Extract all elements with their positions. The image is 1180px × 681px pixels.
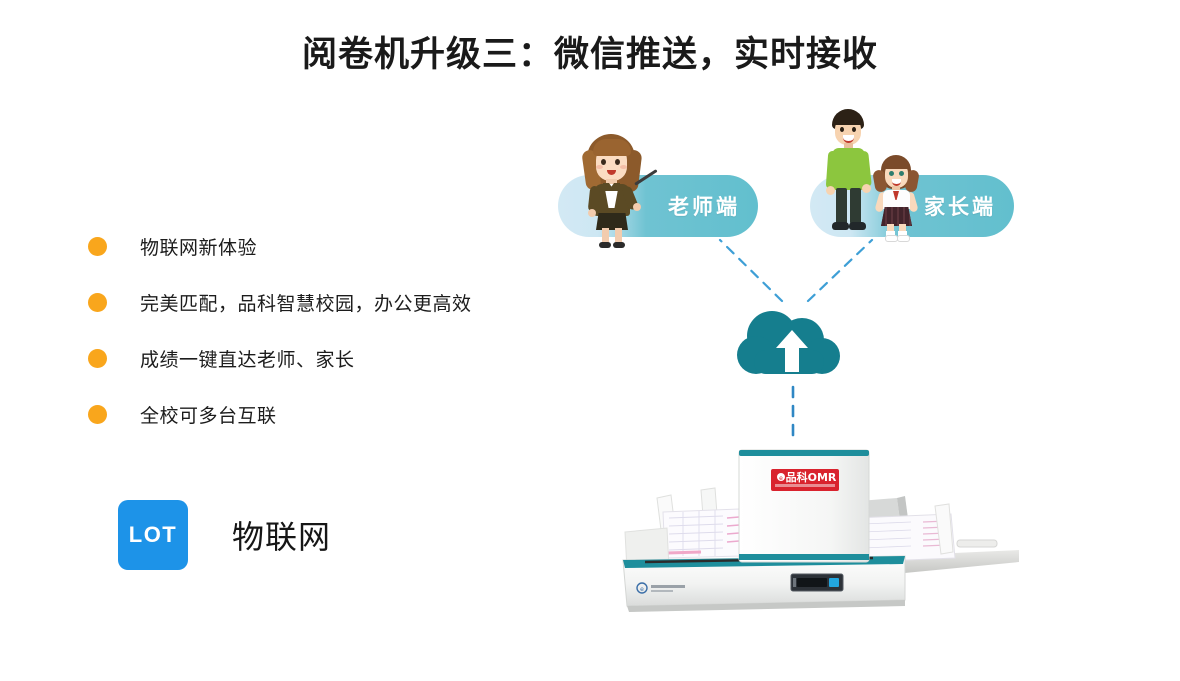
lot-badge: LOT <box>118 500 188 570</box>
bullet-dot-icon <box>88 405 107 424</box>
bullet-label: 完美匹配，品科智慧校园，办公更高效 <box>140 289 472 316</box>
answer-sheets-input <box>663 509 741 558</box>
bullet-dot-icon <box>88 237 107 256</box>
teacher-avatar-illustration <box>575 128 649 238</box>
list-item: 物联网新体验 <box>88 218 558 274</box>
bullet-dot-icon <box>88 349 107 368</box>
svg-text:品科OMR: 品科OMR <box>786 470 837 484</box>
bullet-label: 全校可多台互联 <box>140 401 277 428</box>
link-cloud-to-teacher <box>720 240 782 301</box>
omr-scanner-machine: e 品科OMR e <box>605 440 1025 615</box>
bullet-label: 物联网新体验 <box>140 233 257 260</box>
control-panel-display <box>791 574 843 591</box>
list-item: 成绩一键直达老师、家长 <box>88 330 558 386</box>
iot-badge-block: LOT 物联网 <box>118 500 331 570</box>
bullet-label: 成绩一键直达老师、家长 <box>140 345 355 372</box>
bullet-dot-icon <box>88 293 107 312</box>
child-avatar-illustration <box>870 153 922 241</box>
cloud-upload-icon <box>732 300 852 390</box>
machine-tower <box>739 450 869 562</box>
lot-badge-label: 物联网 <box>232 512 331 558</box>
svg-text:e: e <box>640 586 644 593</box>
endpoint-teacher-label: 老师端 <box>668 191 740 221</box>
page-title: 阅卷机升级三：微信推送，实时接收 <box>0 26 1180 77</box>
architecture-diagram: 老师端 家长端 <box>520 95 1140 655</box>
brand-logo-label: e 品科OMR <box>771 469 839 491</box>
svg-text:e: e <box>779 475 783 482</box>
list-item: 全校可多台互联 <box>88 386 558 442</box>
feature-bullet-list: 物联网新体验 完美匹配，品科智慧校园，办公更高效 成绩一键直达老师、家长 全校可… <box>88 218 558 442</box>
list-item: 完美匹配，品科智慧校园，办公更高效 <box>88 274 558 330</box>
link-cloud-to-parent <box>808 240 872 301</box>
endpoint-parent-label: 家长端 <box>924 191 996 221</box>
